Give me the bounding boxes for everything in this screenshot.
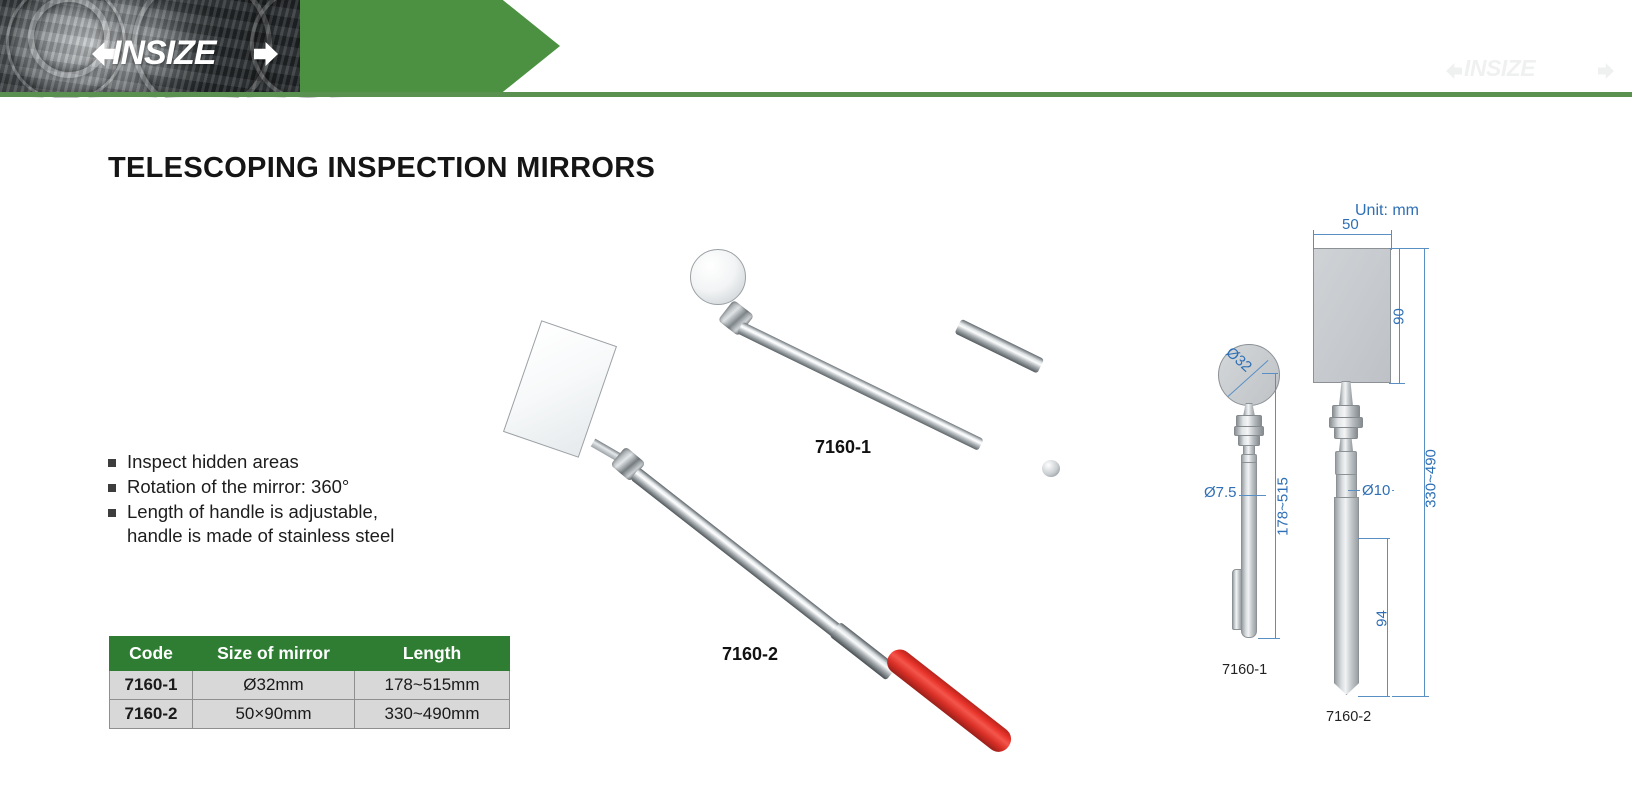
dim-mirror-height: 90 [1391,296,1408,338]
arrow-right-icon [254,42,278,66]
product-photo-7160-2 [515,320,1055,710]
length-dim-tick-top [1262,373,1278,374]
column-header-size: Size of mirror [193,637,355,671]
insize-logo: INSIZE [92,36,277,74]
feature-text: Inspect hidden areas [127,450,299,474]
shaft-ferrule [1335,451,1357,475]
dim-handle-length: 94 [1374,605,1391,633]
dim-total-length-range: 330~490 [1423,435,1440,523]
list-item: Rotation of the mirror: 360° [108,475,528,499]
dim-mirror-width: 50 [1339,216,1362,233]
total-length-tick-bottom [1392,696,1429,697]
height-dim-tick-bottom [1389,383,1405,384]
cell-code: 7160-2 [110,700,193,729]
bullet-square-icon [108,509,116,517]
column-header-length: Length [355,637,510,671]
handle-dim-tick-top [1358,538,1390,539]
insize-logo-text: INSIZE [112,34,216,73]
product-label-7160-2: 7160-2 [722,644,778,665]
drawing-caption-7160-1: 7160-1 [1222,662,1267,678]
table-header-row: Code Size of mirror Length [110,637,510,671]
list-item: Inspect hidden areas [108,450,528,474]
length-dim-tick-bottom [1258,638,1280,639]
drawing-caption-7160-2: 7160-2 [1326,709,1371,725]
round-mirror-head [690,249,746,305]
spec-table: Code Size of mirror Length 7160-1 Ø32mm … [109,636,510,729]
telescoping-shaft [630,468,843,639]
width-dim-line [1313,234,1391,235]
telescoping-shaft-segment [829,622,897,681]
width-dim-tick-right [1391,230,1392,250]
cell-size: Ø32mm [193,671,355,700]
page-title: TELESCOPING INSPECTION MIRRORS [108,152,655,185]
cell-code: 7160-1 [110,671,193,700]
handle-dim-tick-bottom [1358,696,1390,697]
cell-length: 178~515mm [355,671,510,700]
feature-text: Rotation of the mirror: 360° [127,475,349,499]
feature-text-continuation: handle is made of stainless steel [127,524,394,548]
insize-watermark: INSIZE [1446,58,1626,88]
mirror-stem [1339,381,1353,407]
rectangular-mirror-head [503,320,617,458]
drawing-rect-mirror [1313,248,1391,383]
dim-shaft-diameter: Ø7.5 [1202,484,1239,501]
dim-length-range: 178~515 [1275,463,1292,551]
cell-length: 330~490mm [355,700,510,729]
list-item: Length of handle is adjustable, handle i… [108,500,528,548]
watermark-text: INSIZE [1464,55,1535,82]
page-header: INSIZE INSIZE [0,0,1632,98]
catalog-page: INSIZE INSIZE TELESCOPING INSPECTION MIR… [0,0,1632,809]
unit-label: Unit: mm [1355,202,1419,220]
total-length-tick-top [1395,248,1429,249]
dim-shaft-diameter: Ø10 [1360,482,1392,499]
header-green-chevron [300,0,560,92]
header-green-rule [0,92,1632,97]
bullet-square-icon [108,459,116,467]
width-dim-tick-left [1313,230,1314,250]
pocket-clip [1232,569,1242,630]
column-header-code: Code [110,637,193,671]
table-row: 7160-1 Ø32mm 178~515mm [110,671,510,700]
drawing-shaft-upper [1336,474,1357,498]
feature-text-wrap: Length of handle is adjustable, handle i… [127,500,394,548]
swivel-knuckle-lower [1334,427,1358,439]
drawing-shaft-7160-1 [1241,462,1257,638]
feature-list: Inspect hidden areas Rotation of the mir… [108,450,528,549]
drawing-shaft-7160-2 [1334,497,1359,695]
watermark-arrow-right-icon [1598,63,1614,79]
watermark-arrow-left-icon [1446,63,1462,79]
shaft-collar [1339,438,1353,452]
cell-size: 50×90mm [193,700,355,729]
table-row: 7160-2 50×90mm 330~490mm [110,700,510,729]
feature-text: Length of handle is adjustable, [127,501,378,522]
red-handle-grip [882,645,1016,757]
bullet-square-icon [108,484,116,492]
